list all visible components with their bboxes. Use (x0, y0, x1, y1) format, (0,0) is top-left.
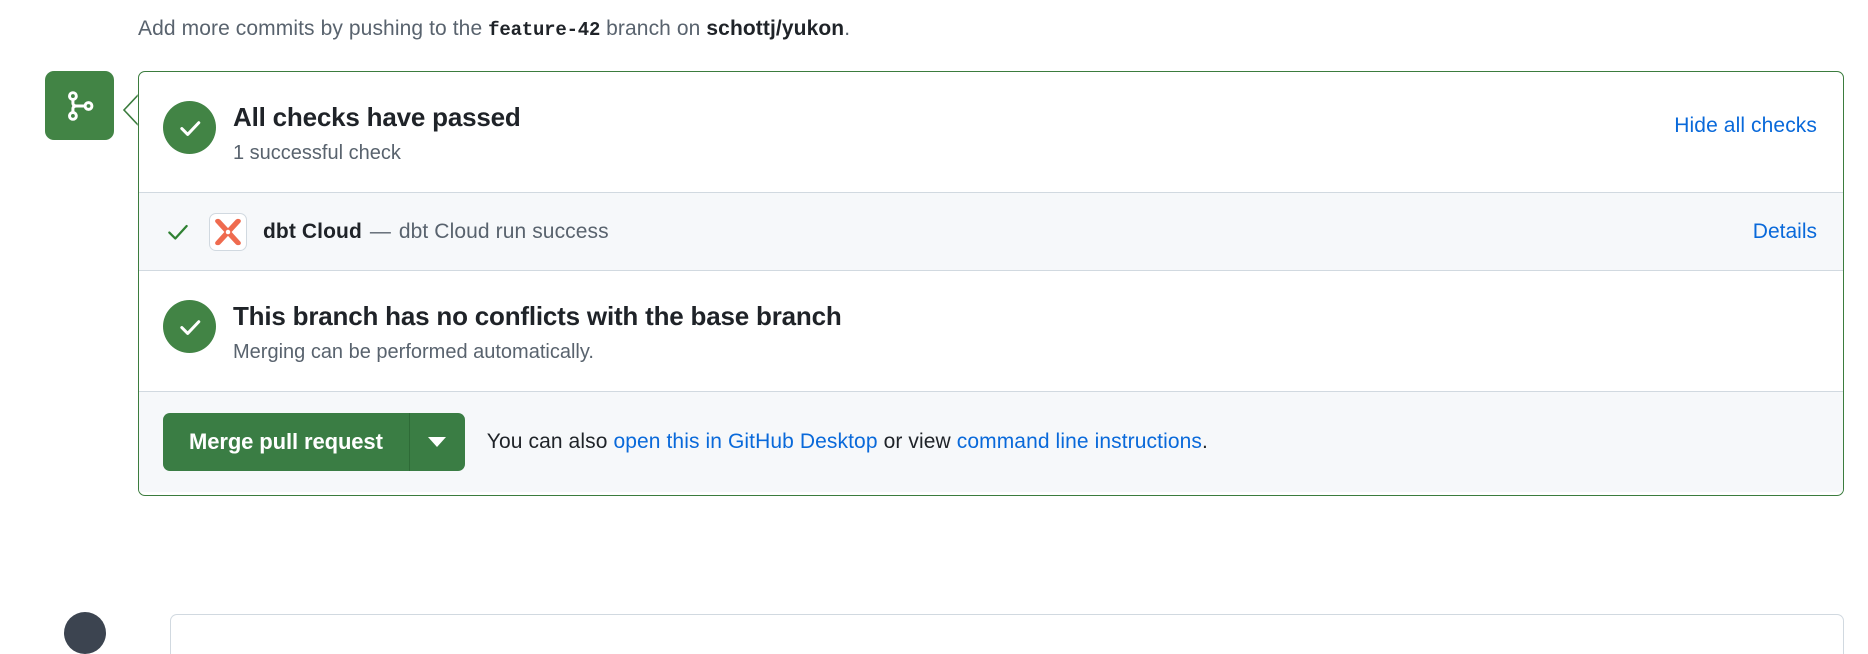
merge-box: All checks have passed 1 successful chec… (138, 71, 1844, 496)
avatar[interactable] (64, 612, 106, 654)
check-details-link[interactable]: Details (1753, 220, 1817, 244)
check-separator: — (370, 220, 391, 244)
merge-pull-request-button[interactable]: Merge pull request (163, 413, 409, 471)
hide-all-checks-link[interactable]: Hide all checks (1674, 114, 1817, 138)
check-circle-icon (163, 101, 216, 154)
checks-summary-text: All checks have passed 1 successful chec… (233, 99, 521, 167)
check-row[interactable]: dbt Cloud — dbt Cloud run success Detail… (139, 193, 1843, 271)
merge-state-badge (45, 71, 114, 140)
chevron-down-icon (428, 437, 446, 447)
footer-note-suffix: . (1202, 430, 1208, 453)
command-line-instructions-link[interactable]: command line instructions (957, 430, 1202, 453)
merge-footer-note: You can also open this in GitHub Desktop… (487, 430, 1208, 454)
conflicts-text: This branch has no conflicts with the ba… (233, 298, 842, 366)
checks-summary-title: All checks have passed (233, 101, 521, 133)
conflicts-title: This branch has no conflicts with the ba… (233, 300, 842, 332)
push-hint-prefix: Add more commits by pushing to the (138, 17, 482, 40)
dbt-cloud-logo-icon (209, 213, 247, 251)
merge-actions-footer: Merge pull request You can also open thi… (139, 392, 1843, 492)
branch-name: feature-42 (488, 19, 600, 41)
check-app-name: dbt Cloud (263, 220, 362, 244)
conflicts-subtitle: Merging can be performed automatically. (233, 338, 842, 366)
footer-note-prefix: You can also (487, 430, 608, 453)
push-hint-suffix: . (844, 17, 850, 40)
merge-button-group: Merge pull request (163, 413, 465, 471)
checks-summary-section: All checks have passed 1 successful chec… (139, 72, 1843, 193)
push-hint-middle: branch on (606, 17, 700, 40)
check-description: dbt Cloud run success (399, 220, 609, 244)
merge-options-dropdown-button[interactable] (409, 413, 465, 471)
check-circle-icon (163, 300, 216, 353)
repository-name: schottj/yukon (706, 17, 844, 40)
conflicts-section: This branch has no conflicts with the ba… (139, 271, 1843, 392)
next-timeline-item (170, 614, 1844, 654)
checks-summary-subtitle: 1 successful check (233, 139, 521, 167)
push-more-commits-hint: Add more commits by pushing to the featu… (138, 14, 850, 45)
check-icon (163, 219, 193, 245)
open-in-github-desktop-link[interactable]: open this in GitHub Desktop (613, 430, 877, 453)
footer-note-middle: or view (884, 430, 951, 453)
git-merge-icon (63, 89, 97, 123)
